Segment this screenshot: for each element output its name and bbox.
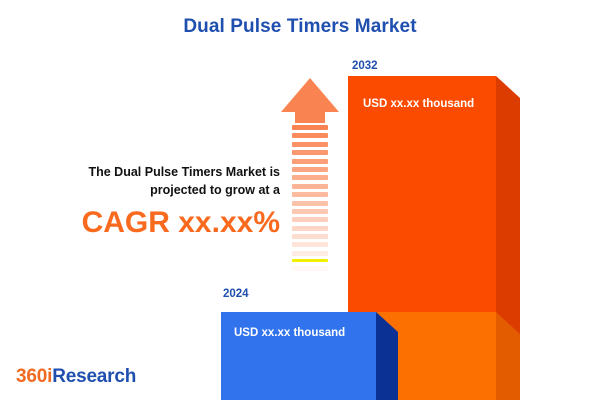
brand-logo-suffix: Research bbox=[52, 366, 136, 387]
arrow-stripe bbox=[292, 125, 328, 130]
arrow-stripe bbox=[292, 167, 328, 172]
page-title: Dual Pulse Timers Market bbox=[0, 16, 600, 38]
arrow-stripe bbox=[292, 226, 328, 231]
bar-label-2024: 2024 bbox=[223, 288, 249, 300]
arrow-stripe bbox=[292, 217, 328, 222]
brand-logo[interactable]: 360iResearch bbox=[16, 366, 136, 388]
arrow-stripe bbox=[292, 209, 328, 214]
growth-arrow-icon bbox=[281, 78, 339, 290]
bar-value-2024: USD xx.xx thousand bbox=[234, 327, 345, 339]
arrow-stripe bbox=[292, 259, 328, 262]
arrow-stripe bbox=[292, 150, 328, 155]
cagr-description-line-2: projected to grow at a bbox=[18, 181, 280, 199]
arrow-stripe bbox=[292, 251, 328, 256]
market-infographic: Dual Pulse Timers Market The Dual Pulse … bbox=[0, 0, 600, 400]
cagr-description-line-1: The Dual Pulse Timers Market is bbox=[18, 163, 280, 181]
arrow-stripe bbox=[292, 175, 328, 180]
arrow-stripe bbox=[292, 142, 328, 147]
cagr-value: CAGR xx.xx% bbox=[18, 206, 280, 240]
bar-2024-front-face bbox=[221, 312, 376, 400]
arrow-stripe bbox=[292, 184, 328, 189]
arrow-stripe bbox=[292, 234, 328, 239]
bar-value-2032: USD xx.xx thousand bbox=[363, 98, 474, 110]
arrow-stripe bbox=[292, 266, 328, 271]
arrow-stripe bbox=[292, 242, 328, 247]
arrow-neck bbox=[295, 111, 325, 123]
brand-logo-prefix: 360i bbox=[16, 366, 52, 387]
arrow-stripe bbox=[292, 201, 328, 206]
arrow-head-icon bbox=[281, 78, 339, 112]
arrow-stripe bbox=[292, 159, 328, 164]
bar-label-2032: 2032 bbox=[352, 60, 378, 72]
cagr-text-block: The Dual Pulse Timers Market is projecte… bbox=[18, 163, 280, 240]
arrow-stripe bbox=[292, 274, 328, 279]
arrow-stripe bbox=[292, 192, 328, 197]
arrow-stripe bbox=[292, 133, 328, 138]
arrow-shaft-stripes bbox=[292, 125, 328, 290]
